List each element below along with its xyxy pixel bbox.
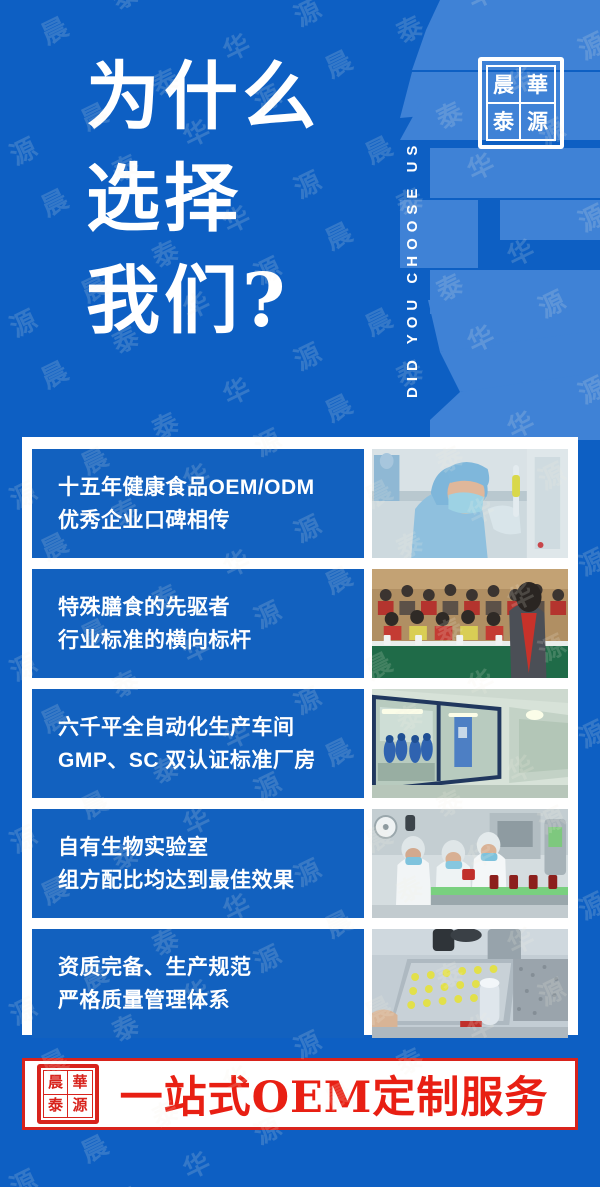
feature-row: 特殊膳食的先驱者 行业标准的横向标杆 [32, 569, 568, 678]
seal-char-bottom-left: 泰 [44, 1095, 68, 1118]
feature-line-1: 自有生物实验室 [58, 831, 364, 864]
vertical-tagline: DID YOU CHOOSE US [404, 18, 421, 398]
feature-line-1: 六千平全自动化生产车间 [58, 711, 364, 744]
cleanroom-corridor-photo [372, 689, 568, 798]
seal-char-top-right: 華 [68, 1071, 92, 1095]
brand-seal-red-icon: 晨 華 泰 源 [37, 1064, 99, 1124]
blister-packaging-photo [372, 929, 568, 1038]
title-line-1: 为什么 [86, 46, 386, 148]
feature-card[interactable]: 特殊膳食的先驱者 行业标准的横向标杆 [32, 569, 364, 678]
feature-line-2: 组方配比均达到最佳效果 [58, 864, 364, 897]
feature-card[interactable]: 资质完备、生产规范 严格质量管理体系 [32, 929, 364, 1038]
conference-audience-photo [372, 569, 568, 678]
seal-char-top-left: 晨 [44, 1071, 68, 1095]
bottom-cta-banner[interactable]: 晨 華 泰 源 一站式OEM定制服务 [22, 1058, 578, 1130]
feature-row: 十五年健康食品OEM/ODM 优秀企业口碑相传 [32, 449, 568, 558]
title-line-3: 我们? [86, 250, 386, 352]
lab-technician-photo [372, 449, 568, 558]
feature-card[interactable]: 六千平全自动化生产车间 GMP、SC 双认证标准厂房 [32, 689, 364, 798]
feature-line-1: 资质完备、生产规范 [58, 951, 364, 984]
feature-line-1: 特殊膳食的先驱者 [58, 591, 364, 624]
feature-card[interactable]: 自有生物实验室 组方配比均达到最佳效果 [32, 809, 364, 918]
feature-line-1: 十五年健康食品OEM/ODM [58, 471, 364, 504]
feature-card[interactable]: 十五年健康食品OEM/ODM 优秀企业口碑相传 [32, 449, 364, 558]
brand-seal-icon: 晨 華 泰 源 [478, 57, 564, 149]
feature-line-2: 严格质量管理体系 [58, 984, 364, 1017]
feature-row: 自有生物实验室 组方配比均达到最佳效果 [32, 809, 568, 918]
title-line-2: 选择 [86, 148, 386, 250]
seal-char-top-right: 華 [521, 67, 554, 104]
feature-row: 资质完备、生产规范 严格质量管理体系 [32, 929, 568, 1038]
page-title: 为什么 选择 我们? [86, 46, 386, 352]
cta-text: 一站式OEM定制服务 [99, 1063, 575, 1125]
feature-line-2: 行业标准的横向标杆 [58, 624, 364, 657]
feature-line-2: GMP、SC 双认证标准厂房 [58, 744, 364, 777]
feature-line-2: 优秀企业口碑相传 [58, 504, 364, 537]
seal-char-bottom-right: 源 [521, 104, 554, 139]
poster-header: 为什么 选择 我们? DID YOU CHOOSE US 晨 華 泰 源 [0, 0, 600, 437]
seal-char-bottom-left: 泰 [488, 104, 521, 139]
seal-char-top-left: 晨 [488, 67, 521, 104]
feature-list-frame: 十五年健康食品OEM/ODM 优秀企业口碑相传 [22, 437, 578, 1035]
seal-char-bottom-right: 源 [68, 1095, 92, 1118]
production-line-staff-photo [372, 809, 568, 918]
feature-row: 六千平全自动化生产车间 GMP、SC 双认证标准厂房 [32, 689, 568, 798]
promo-poster: 为什么 选择 我们? DID YOU CHOOSE US 晨 華 泰 源 十五年… [0, 0, 600, 1187]
